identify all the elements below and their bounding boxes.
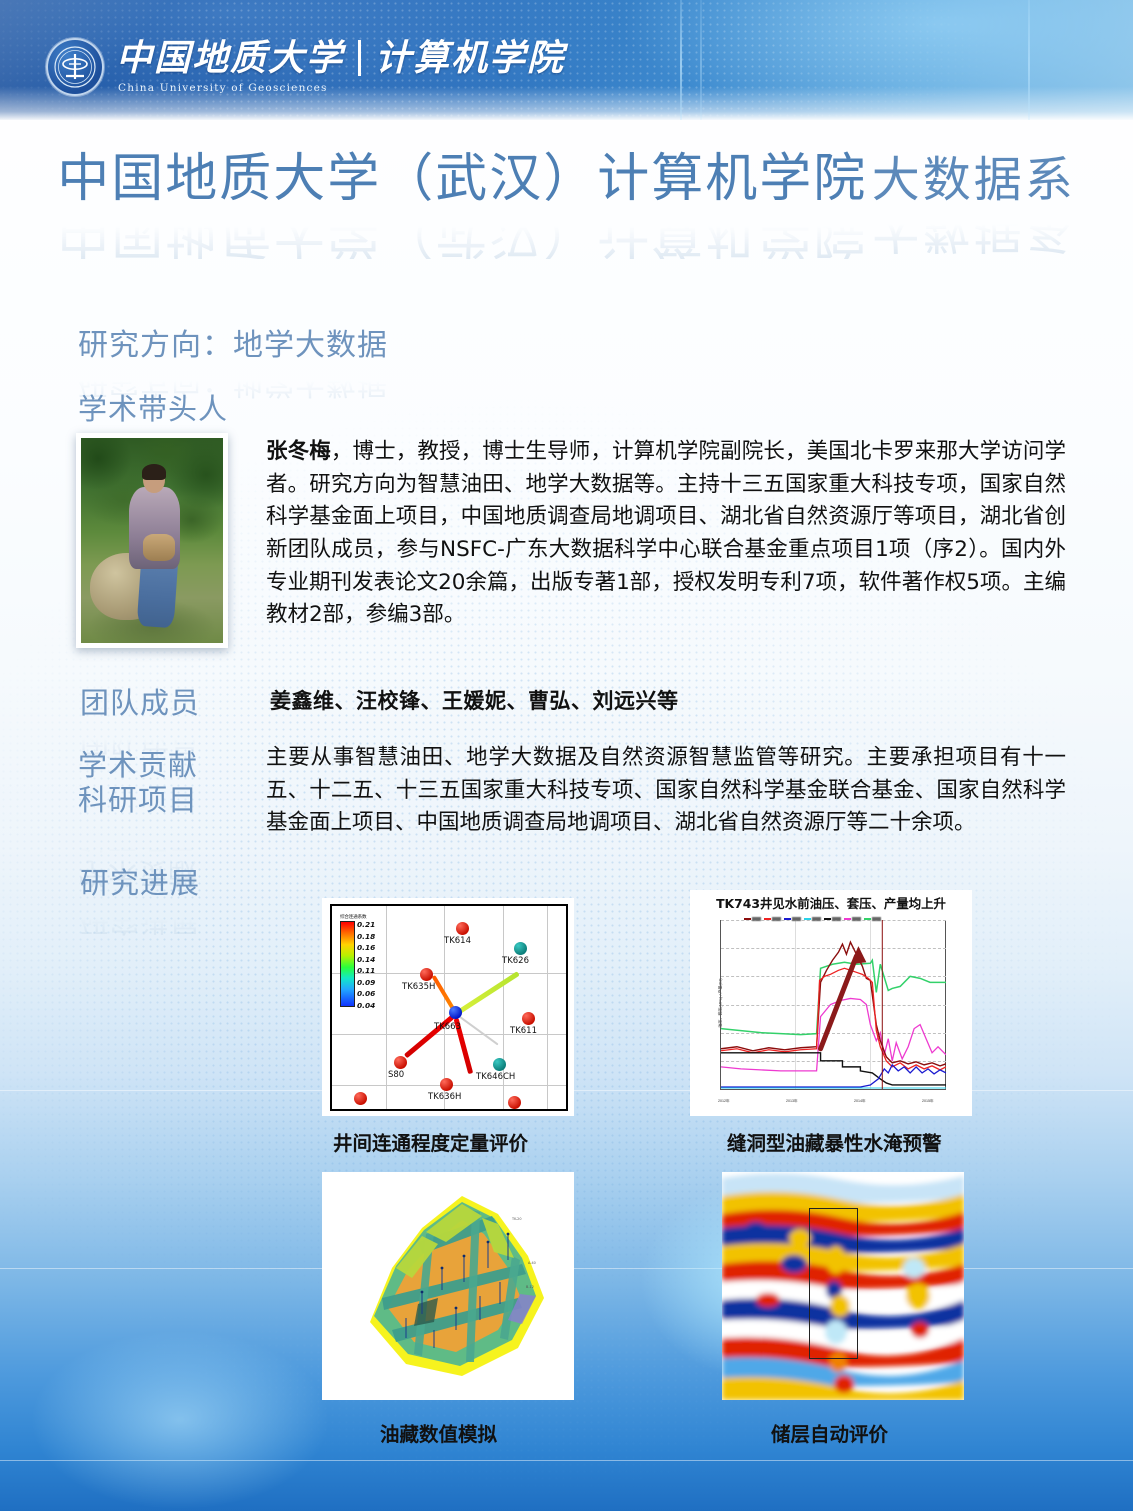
figure-reservoir-model: TK-20A-40B-12 — [322, 1172, 574, 1400]
logo-department-name: 计算机学院 — [375, 40, 565, 76]
background-hline — [0, 1460, 1133, 1461]
page-title: 中国地质大学（武汉）计算机学院 中国地质大学（武汉）计算机学院 大数据系 大数据… — [0, 142, 1133, 206]
colorbar-tick: 0.14 — [357, 956, 375, 963]
photo-bag — [143, 534, 174, 561]
well-marker — [354, 1092, 367, 1105]
colorbar-tick: 0.11 — [357, 967, 375, 974]
chart-plot-area — [720, 920, 946, 1090]
figure-tk743-chart: TK743井见水前油压、套压、产量均上升 油压、套压(MPa) / 产量(t/d… — [690, 890, 972, 1116]
leader-bio-text: ，博士，教授，博士生导师，计算机学院副院长，美国北卡罗来那大学访问学者。研究方向… — [266, 439, 1066, 627]
well-marker — [420, 968, 433, 981]
colorbar-tick: 0.16 — [357, 944, 375, 951]
figure-caption-3: 油藏数值模拟 — [380, 1418, 497, 1447]
chart-legend — [744, 917, 881, 921]
leader-photo-image — [81, 438, 223, 643]
well-marker — [508, 1096, 521, 1109]
well-label: TK611 — [510, 1026, 537, 1036]
well-label: TK663 — [434, 1022, 461, 1032]
well-label: TK626 — [502, 956, 529, 966]
well-label: TK636H — [428, 1092, 461, 1102]
research-direction-label: 研究方向：地学大数据 研究方向：地学大数据 — [78, 320, 388, 364]
colorbar-tick: 0.06 — [357, 990, 375, 997]
trend-arrow-annotation — [821, 946, 867, 1049]
chart-title: TK743井见水前油压、套压、产量均上升 — [690, 894, 972, 912]
x-tick: 2013年 — [786, 1099, 798, 1104]
well-label: TK614 — [444, 936, 471, 946]
legend-item — [824, 917, 841, 921]
well-label: TK635H — [402, 982, 435, 992]
svg-text:TK-20: TK-20 — [511, 1217, 521, 1221]
logo-english-name: China University of Geosciences — [118, 82, 565, 94]
team-members: 姜鑫维、汪校锋、王媛妮、曹弘、刘远兴等 — [270, 686, 1060, 718]
well-marker — [514, 942, 527, 955]
leader-name: 张冬梅 — [266, 439, 331, 464]
grid-line — [547, 906, 548, 1109]
figure-caption-2: 缝洞型油藏暴性水淹预警 — [727, 1127, 942, 1156]
figure-caption-4: 储层自动评价 — [771, 1418, 888, 1447]
connection-line — [457, 971, 520, 1014]
x-tick: 2014年 — [854, 1099, 866, 1104]
title-line-2: 大数据系 大数据系 — [872, 156, 1076, 205]
colorbar-tick: 0.21 — [357, 921, 375, 928]
well-label: TK646CH — [476, 1072, 515, 1082]
well-marker-injector — [449, 1006, 462, 1019]
anomaly-highlight-box — [809, 1208, 857, 1358]
cug-emblem-icon — [46, 38, 104, 96]
logo-divider — [358, 40, 361, 76]
legend-item — [804, 917, 821, 921]
connection-line — [459, 1016, 498, 1045]
legend-item — [764, 917, 781, 921]
svg-text:A-40: A-40 — [528, 1261, 536, 1265]
leader-photo — [76, 433, 228, 648]
leader-bio: 张冬梅，博士，教授，博士生导师，计算机学院副院长，美国北卡罗来那大学访问学者。研… — [266, 436, 1066, 632]
well-marker — [493, 1058, 506, 1071]
well-marker — [456, 922, 469, 935]
title-line-1: 中国地质大学（武汉）计算机学院 中国地质大学（武汉）计算机学院 — [57, 153, 867, 206]
banner-light-streak — [1028, 0, 1030, 120]
legend-item — [844, 917, 861, 921]
well-map-frame: TK614 TK626 TK635H TK663 TK611 S80 TK646… — [330, 904, 568, 1111]
header-banner: 中国地质大学 计算机学院 China University of Geoscie… — [0, 0, 1133, 120]
logo-wordmark: 中国地质大学 计算机学院 China University of Geoscie… — [116, 40, 565, 94]
colorbar-tick: 0.18 — [357, 933, 375, 940]
well-label: S80 — [388, 1070, 404, 1080]
banner-light-streak — [700, 0, 702, 120]
sidebar-label-leader: 学术带头人 学术带头人 — [78, 386, 228, 428]
sidebar-label-team: 团队成员 团队成员 — [80, 680, 200, 722]
colorbar-ticks: 0.21 0.18 0.16 0.14 0.11 0.09 0.06 0.04 — [357, 921, 375, 1009]
colorbar-tick: 0.09 — [357, 979, 375, 986]
contribution-text: 主要从事智慧油田、地学大数据及自然资源智慧监管等研究。主要承担项目有十一五、十二… — [266, 742, 1066, 840]
figure-seismic-section — [722, 1172, 964, 1400]
figure-caption-1: 井间连通程度定量评价 — [333, 1127, 528, 1156]
svg-text:B-12: B-12 — [526, 1285, 534, 1289]
colorbar-gradient — [340, 921, 355, 1007]
x-tick: 2015年 — [922, 1099, 934, 1104]
figure-well-connectivity: TK614 TK626 TK635H TK663 TK611 S80 TK646… — [322, 898, 574, 1116]
university-logo: 中国地质大学 计算机学院 China University of Geoscie… — [46, 38, 565, 96]
colorbar-tick: 0.04 — [357, 1002, 375, 1009]
sidebar-label-progress: 研究进展 研究进展 — [80, 860, 200, 902]
reservoir-3d-svg: TK-20A-40B-12 — [322, 1172, 574, 1400]
legend-item — [744, 917, 761, 921]
legend-item — [784, 917, 801, 921]
well-marker — [522, 1012, 535, 1025]
well-marker — [440, 1078, 453, 1091]
x-tick: 2012年 — [718, 1099, 730, 1104]
background-glow — [30, 1330, 330, 1510]
banner-light-streak — [680, 0, 682, 120]
connectivity-colorbar: 综合连通系数 0.21 0.18 0.16 0.14 0.11 0.09 0.0… — [340, 914, 386, 1009]
well-marker — [394, 1056, 407, 1069]
sidebar-label-contribution: 学术贡献科研项目 学术贡献科研项目 — [78, 748, 198, 819]
logo-university-name: 中国地质大学 — [116, 40, 344, 76]
legend-item — [864, 917, 881, 921]
chart-series-svg — [721, 920, 946, 1089]
photo-person-hair — [142, 464, 166, 480]
